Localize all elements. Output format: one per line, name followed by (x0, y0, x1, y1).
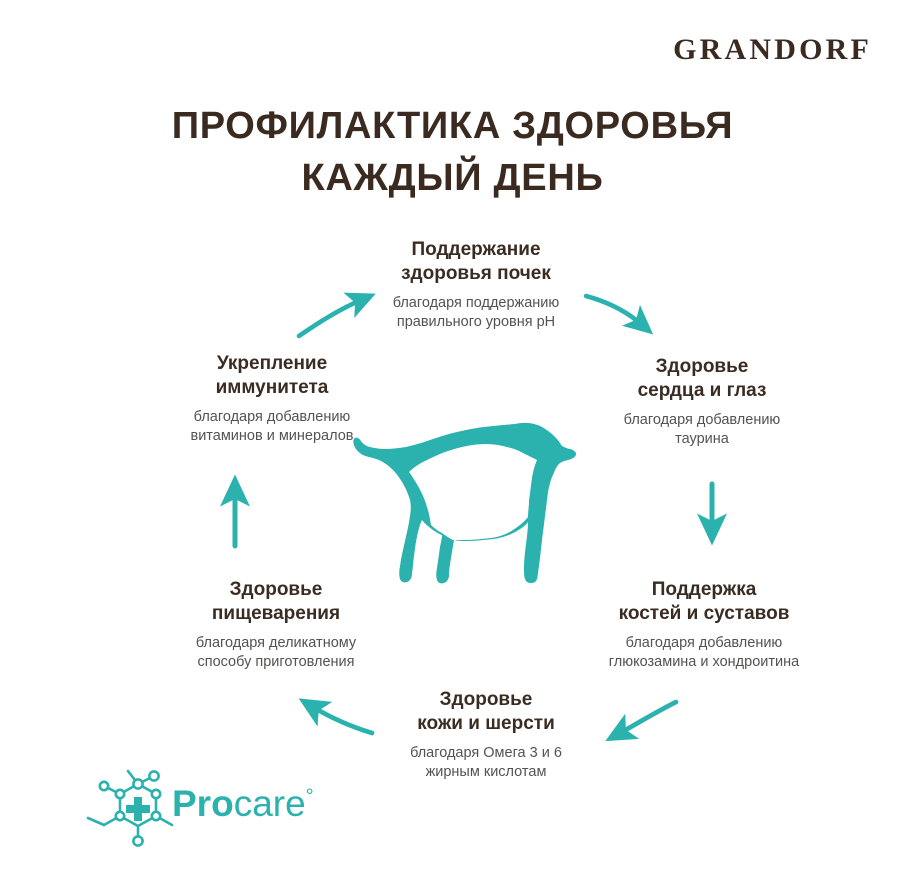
cycle-node-digestion: Здоровье пищеварения благодаря деликатно… (152, 578, 400, 673)
cycle-node-skin: Здоровье кожи и шерсти благодаря Омега 3… (366, 688, 606, 783)
cycle-node-heart: Здоровье сердца и глаз благодаря добавле… (578, 355, 826, 450)
cycle-node-bones-subtitle: благодаря добавлению глюкозамина и хондр… (570, 634, 838, 673)
page-title-line-1: ПРОФИЛАКТИКА ЗДОРОВЬЯ (0, 100, 905, 152)
procare-wordmark: Procare° (172, 785, 314, 822)
molecule-plus-icon (84, 764, 184, 852)
procare-degree-symbol: ° (306, 786, 314, 808)
cycle-node-heart-title: Здоровье сердца и глаз (578, 355, 826, 404)
plus-icon (126, 797, 150, 821)
cycle-node-kidney-subtitle: благодаря поддержанию правильного уровня… (332, 294, 620, 333)
infographic-page: GRANDORF ПРОФИЛАКТИКА ЗДОРОВЬЯ КАЖДЫЙ ДЕ… (0, 0, 905, 876)
cycle-node-heart-subtitle: благодаря добавлению таурина (578, 411, 826, 450)
arrow-bones-to-skin (620, 702, 676, 733)
cycle-node-bones-title: Поддержка костей и суставов (570, 578, 838, 627)
cycle-node-bones: Поддержка костей и суставов благодаря до… (570, 578, 838, 673)
cycle-node-skin-title: Здоровье кожи и шерсти (366, 688, 606, 737)
page-title-line-2: КАЖДЫЙ ДЕНЬ (0, 152, 905, 204)
procare-logo: Procare° (84, 762, 299, 854)
arrow-skin-to-digestion (313, 707, 372, 733)
page-title: ПРОФИЛАКТИКА ЗДОРОВЬЯ КАЖДЫЙ ДЕНЬ (0, 100, 905, 205)
cycle-node-immunity-title: Укрепление иммунитета (148, 352, 396, 401)
cycle-node-kidney: Поддержание здоровья почек благодаря под… (332, 238, 620, 333)
procare-care-text: care (234, 783, 306, 824)
cycle-node-skin-subtitle: благодаря Омега 3 и 6 жирным кислотам (366, 744, 606, 783)
dog-silhouette-icon (352, 418, 578, 586)
brand-wordmark: GRANDORF (673, 33, 872, 67)
cycle-node-digestion-subtitle: благодаря деликатному способу приготовле… (152, 634, 400, 673)
cycle-node-kidney-title: Поддержание здоровья почек (332, 238, 620, 287)
procare-pro-text: Pro (172, 783, 234, 824)
